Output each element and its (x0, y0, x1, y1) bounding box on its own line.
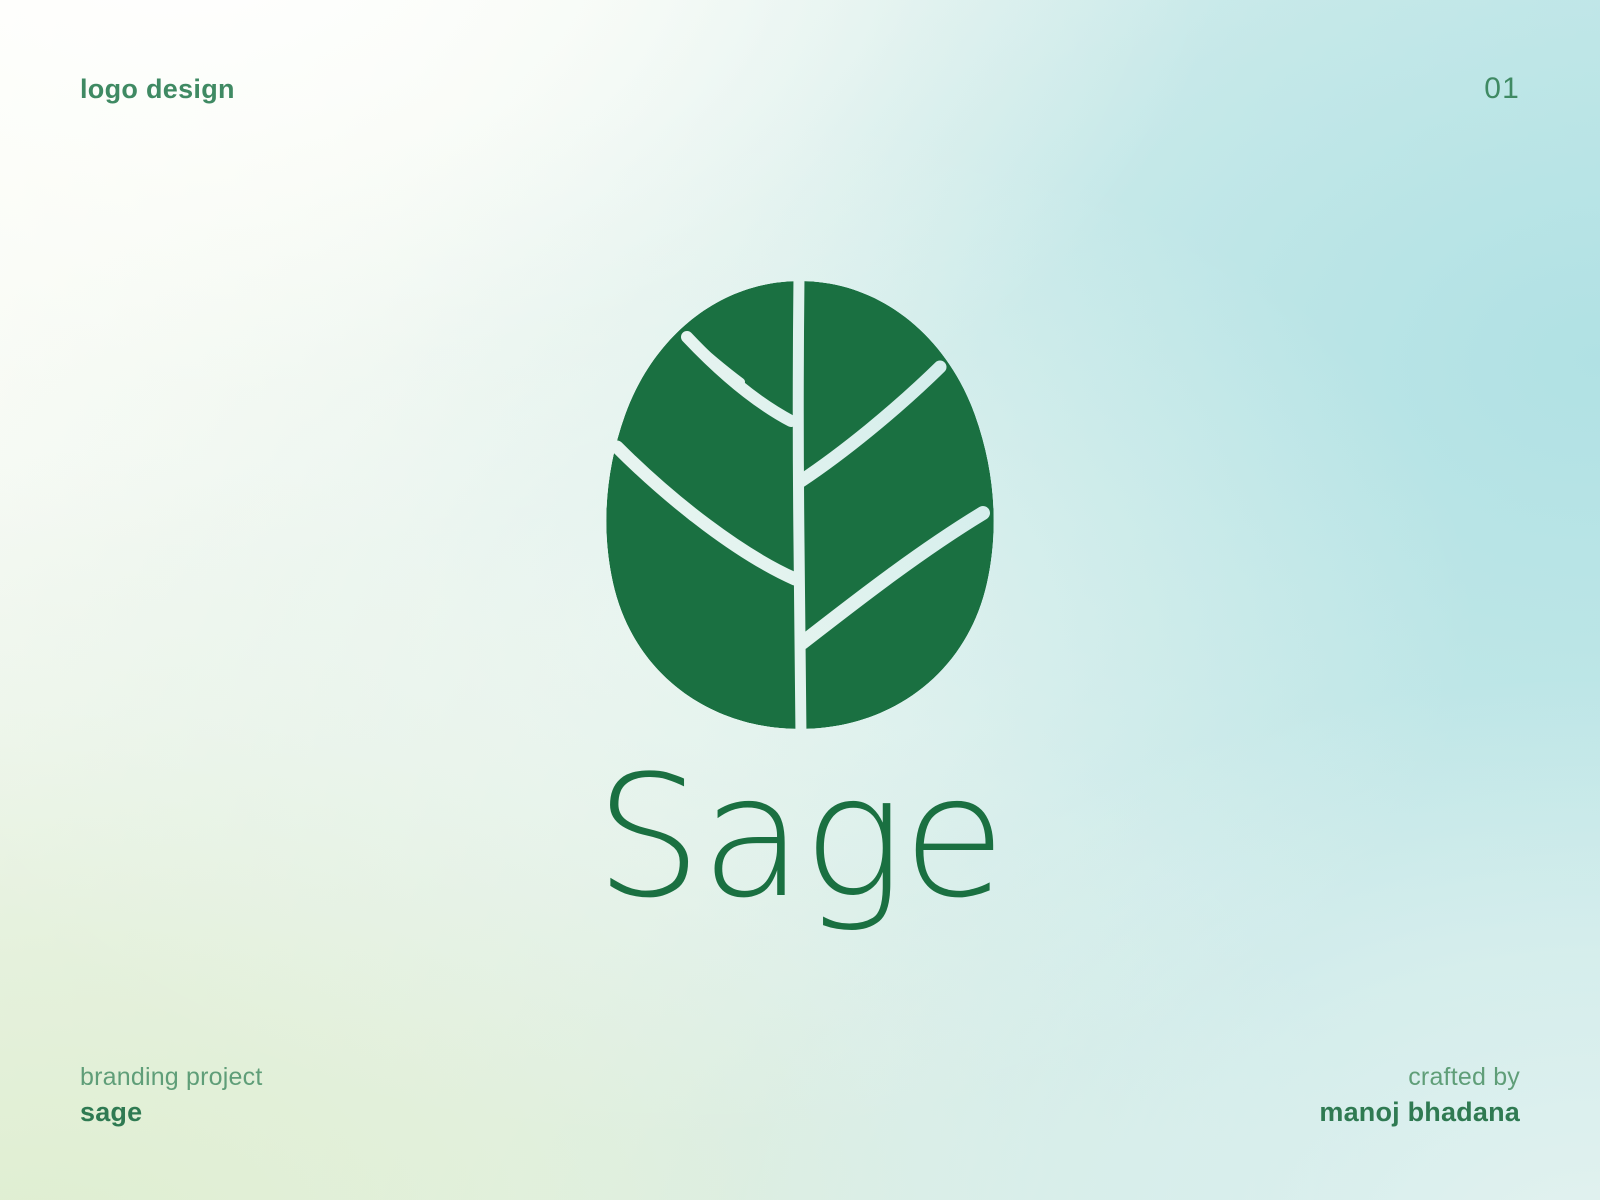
footer-left: branding project sage (80, 1061, 263, 1130)
footer-left-name: sage (80, 1095, 263, 1130)
leaf-icon (595, 275, 1005, 735)
footer-right-name: manoj bhadana (1319, 1095, 1520, 1130)
logo-lockup: Sage (0, 275, 1600, 921)
logo-wordmark: Sage (595, 753, 1005, 921)
slide-canvas: logo design 01 (0, 0, 1600, 1200)
section-label: logo design (80, 74, 235, 105)
footer-right-caption: crafted by (1319, 1061, 1520, 1093)
footer-left-caption: branding project (80, 1061, 263, 1093)
footer-right: crafted by manoj bhadana (1319, 1061, 1520, 1130)
page-number: 01 (1484, 72, 1520, 106)
